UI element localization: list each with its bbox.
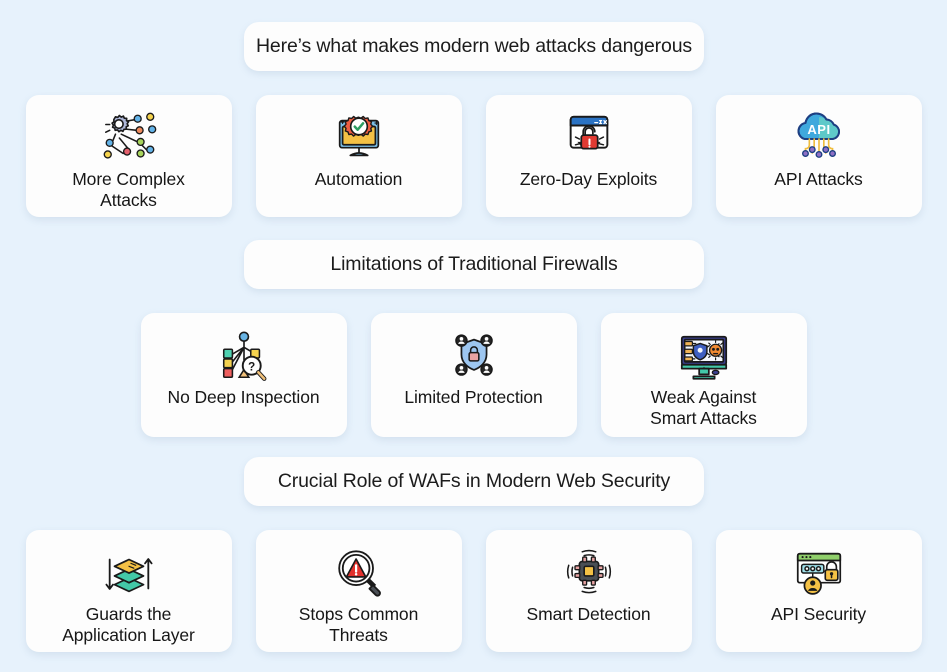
card-stops-common-threats[interactable]: Stops Common Threats [256, 530, 462, 652]
stacked-layers-arrows-icon [98, 546, 160, 602]
section-heading-pill-3: Crucial Role of WAFs in Modern Web Secur… [244, 457, 704, 506]
card-label: No Deep Inspection [162, 387, 326, 408]
api-cloud-icon: API [788, 111, 850, 167]
svg-text:API: API [807, 122, 830, 137]
section-heading-pill-2: Limitations of Traditional Firewalls [244, 240, 704, 289]
monitor-gear-check-icon [328, 111, 390, 167]
section-heading-pill-1: Here’s what makes modern web attacks dan… [244, 22, 704, 71]
card-automation[interactable]: Automation [256, 95, 462, 217]
magnifier-warning-icon [328, 546, 390, 602]
card-label: More Complex Attacks [66, 169, 191, 210]
card-row-1: More Complex Attacks [0, 95, 947, 217]
section-heading-text-2: Limitations of Traditional Firewalls [330, 253, 617, 276]
card-more-complex-attacks[interactable]: More Complex Attacks [26, 95, 232, 217]
card-label: Zero-Day Exploits [514, 169, 663, 190]
card-guards-application-layer[interactable]: Guards the Application Layer [26, 530, 232, 652]
section-heading-text-1: Here’s what makes modern web attacks dan… [256, 35, 692, 58]
browser-padlock-user-icon [788, 546, 850, 602]
card-smart-detection[interactable]: Smart Detection [486, 530, 692, 652]
shield-lock-users-icon [443, 329, 505, 385]
card-label: Weak Against Smart Attacks [644, 387, 763, 428]
browser-bug-lock-icon [558, 111, 620, 167]
gear-network-icon [98, 111, 160, 167]
card-row-3: Guards the Application Layer Stops Co [0, 530, 947, 652]
card-label: API Security [765, 604, 872, 625]
card-label: Smart Detection [521, 604, 657, 625]
card-no-deep-inspection[interactable]: ? No Deep Inspection [141, 313, 347, 437]
monitor-shield-malware-icon [673, 329, 735, 385]
card-label: Automation [309, 169, 409, 190]
card-api-attacks[interactable]: API API Attacks [716, 95, 922, 217]
svg-text:?: ? [248, 362, 255, 374]
card-zero-day-exploits[interactable]: Zero-Day Exploits [486, 95, 692, 217]
card-label: Stops Common Threats [293, 604, 424, 645]
card-label: Limited Protection [398, 387, 548, 408]
card-label: Guards the Application Layer [56, 604, 201, 645]
card-label: API Attacks [768, 169, 868, 190]
tree-magnifier-question-icon: ? [213, 329, 275, 385]
section-heading-text-3: Crucial Role of WAFs in Modern Web Secur… [278, 470, 670, 493]
card-row-2: ? No Deep Inspection [0, 313, 947, 437]
card-limited-protection[interactable]: Limited Protection [371, 313, 577, 437]
infographic-board: Here’s what makes modern web attacks dan… [0, 0, 947, 672]
chip-signal-icon [558, 546, 620, 602]
card-api-security[interactable]: API Security [716, 530, 922, 652]
card-weak-against-smart-attacks[interactable]: Weak Against Smart Attacks [601, 313, 807, 437]
